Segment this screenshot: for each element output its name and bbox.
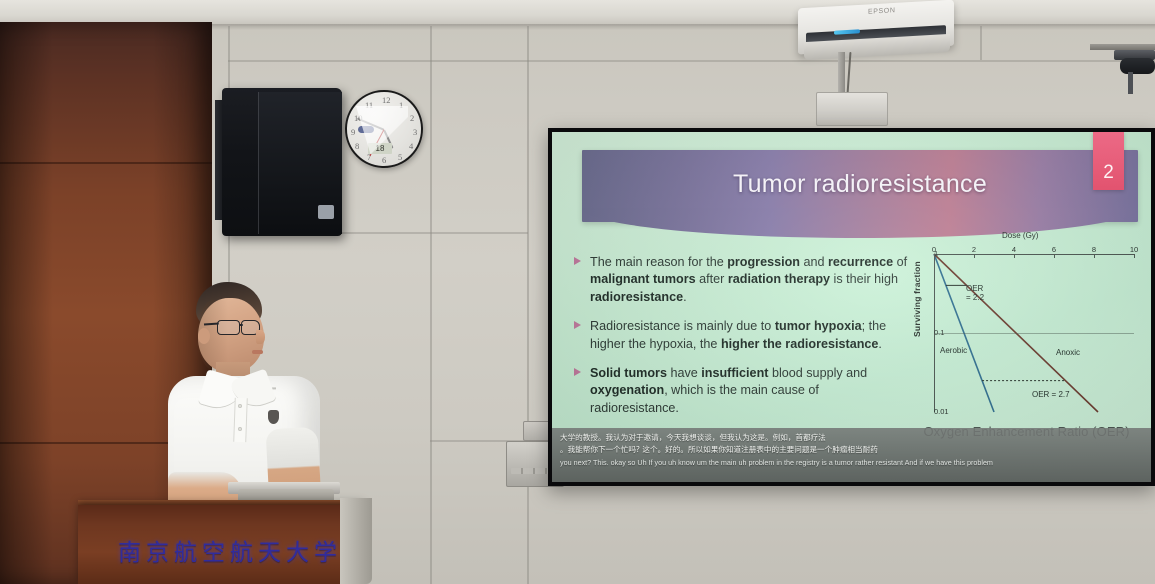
presenter-mouth [252, 350, 263, 354]
caption-english-line: you next? This. okay so Uh If you uh kno… [560, 458, 1143, 469]
polo-button [238, 427, 242, 431]
polo-chest-logo [268, 410, 279, 424]
slide-title: Tumor radioresistance [582, 170, 1138, 199]
clock-date-window: 18 [368, 143, 392, 154]
clock-numeral: 5 [398, 152, 402, 162]
bullet-text: Solid tumors have insufficient blood sup… [590, 365, 909, 417]
chart-series-label-anoxic: Anoxic [1056, 348, 1080, 357]
chart-x-tick-mark [934, 254, 935, 258]
clock-numeral: 6 [382, 155, 386, 165]
presenter-nose [256, 330, 265, 344]
clock-brand-logo [358, 126, 374, 133]
chart-gridline [934, 333, 1134, 334]
chart-annotation-oer-aerobic: OER = 2.2 [966, 284, 984, 302]
security-camera-icon [1120, 58, 1155, 74]
wall-seam [980, 26, 982, 60]
clock-numeral: 2 [410, 113, 414, 123]
clock-numeral: 9 [351, 127, 355, 137]
bullet-triangle-icon [574, 257, 581, 265]
bullet-triangle-icon [574, 321, 581, 329]
bullet-text: Radioresistance is mainly due to tumor h… [590, 318, 909, 353]
presenter-ear [198, 328, 210, 344]
clock-numeral: 3 [413, 127, 417, 137]
chart-x-tick: 4 [1012, 245, 1016, 254]
chart-annotation-oer-anoxic: OER = 2.7 [1032, 390, 1070, 399]
clock-numeral: 4 [409, 141, 413, 151]
bullet-item: Radioresistance is mainly due to tumor h… [574, 318, 909, 353]
chart-x-tick-mark [1134, 254, 1135, 258]
clock-numeral: 11 [365, 100, 373, 110]
live-caption-bar: 大学的教授。我认为对于邀请，今天我想谈谈，但我认为这是。例如，首都疗法 。我能帮… [552, 428, 1151, 482]
wall-seam [430, 26, 432, 584]
chart-x-axis-label: Dose (Gy) [1002, 231, 1038, 240]
projector-mount-pole [838, 52, 845, 94]
chart-x-tick: 0 [932, 245, 936, 254]
oer-survival-curve-chart: Surviving fraction Dose (Gy) 10.10.01 02… [904, 242, 1149, 442]
projection-screen: Tumor radioresistance 2 The main reason … [548, 128, 1155, 486]
clock-numeral: 12 [382, 95, 391, 105]
chart-x-tick-mark [1094, 254, 1095, 258]
caption-chinese-line-2: 。我能帮你下一个忙吗? 这个。好的。所以如果你知道注册表中的主要问题是一个肿瘤相… [560, 444, 1143, 456]
glasses-left-lens [217, 320, 240, 335]
clock-numeral: 1 [399, 100, 403, 110]
slide-page-badge: 2 [1093, 132, 1124, 190]
polo-button [238, 404, 242, 408]
chart-x-axis [934, 254, 1134, 255]
camera-arm [1128, 72, 1133, 94]
slide-bullet-list: The main reason for the progression and … [574, 254, 909, 429]
bullet-item: Solid tumors have insufficient blood sup… [574, 365, 909, 417]
chart-y-axis-label: Surviving fraction [912, 244, 922, 354]
podium-university-name: 南京航空航天大学 [118, 533, 342, 567]
clock-numeral: 8 [355, 141, 359, 151]
chart-x-tick: 2 [972, 245, 976, 254]
wall-clock: 12 1 2 3 4 5 6 7 8 9 10 11 [345, 90, 423, 168]
bullet-triangle-icon [574, 368, 581, 376]
chart-series-label-aerobic: Aerobic [940, 346, 967, 355]
chart-x-tick: 8 [1092, 245, 1096, 254]
chart-x-tick: 10 [1130, 245, 1138, 254]
chart-x-tick-mark [1054, 254, 1055, 258]
chart-x-tick-mark [974, 254, 975, 258]
bullet-text: The main reason for the progression and … [590, 254, 909, 306]
bullet-item: The main reason for the progression and … [574, 254, 909, 306]
projector-junction-box [816, 92, 888, 126]
podium-side-panel [340, 498, 372, 584]
lecture-hall-scene: 12 1 2 3 4 5 6 7 8 9 10 11 18 EPSON AV [0, 0, 1155, 584]
wall-seam [228, 60, 1155, 62]
speaker-badge [318, 205, 334, 219]
chart-x-tick: 6 [1052, 245, 1056, 254]
chart-x-tick-mark [1014, 254, 1015, 258]
presentation-slide: Tumor radioresistance 2 The main reason … [552, 132, 1151, 482]
wall-seam [527, 26, 529, 584]
caption-chinese-line-1: 大学的教授。我认为对于邀请，今天我想谈谈，但我认为这是。例如，首都疗法 [560, 432, 1143, 444]
slide-page-number: 2 [1103, 162, 1114, 184]
